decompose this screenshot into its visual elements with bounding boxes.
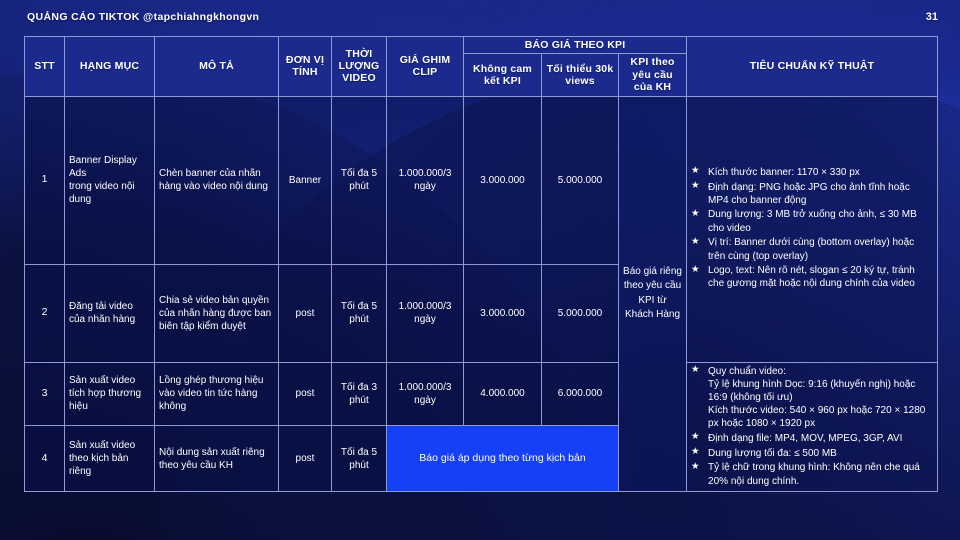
cell-stt: 3 — [25, 362, 65, 426]
header-khong-cam-ket-kpi: Không cam kết KPI — [464, 54, 542, 96]
cell-mo-ta: Nội dung sản xuất riêng theo yêu cầu KH — [155, 426, 279, 492]
cell-hang-muc: Sản xuất video theo kịch bản riêng — [65, 426, 155, 492]
tech-spec-list-1: Kích thước banner: 1170 × 330 px Định dạ… — [691, 166, 933, 291]
slide-title: QUẢNG CÁO TIKTOK @tapchiahngkhongvn — [27, 11, 259, 23]
header-stt: STT — [25, 37, 65, 97]
cell-kpi-khong-cam-ket: 4.000.000 — [464, 362, 542, 426]
cell-kpi-theo-yeu-cau-merged: Báo giá riêng theo yêu cầu KPI từ Khách … — [619, 96, 687, 492]
cell-don-vi-tinh: post — [279, 426, 332, 492]
table-row: 3 Sản xuất video tích hợp thương hiệu Lồ… — [25, 362, 938, 426]
table-row: 1 Banner Display Ads trong video nội dun… — [25, 96, 938, 264]
slide-canvas: QUẢNG CÁO TIKTOK @tapchiahngkhongvn 31 S… — [0, 0, 960, 540]
cell-don-vi-tinh: post — [279, 362, 332, 426]
header-kpi-theo-yeu-cau: KPI theo yêu cầu của KH — [619, 54, 687, 96]
cell-kpi-30k: 5.000.000 — [542, 264, 619, 362]
cell-thoi-luong: Tối đa 5 phút — [332, 96, 387, 264]
cell-mo-ta: Chèn banner của nhãn hàng vào video nội … — [155, 96, 279, 264]
cell-thoi-luong: Tối đa 5 phút — [332, 264, 387, 362]
header-toi-thieu-30k-views: Tối thiểu 30k views — [542, 54, 619, 96]
tech-spec-list-2: Quy chuẩn video: Tỷ lệ khung hình Dọc: 9… — [691, 365, 933, 488]
tech-spec-item: Vị trí: Banner dưới cùng (bottom overlay… — [691, 236, 933, 262]
cell-kpi-30k: 5.000.000 — [542, 96, 619, 264]
header-thoi-luong-video: THỜI LƯỢNG VIDEO — [332, 37, 387, 97]
tech-spec-item: Quy chuẩn video: Tỷ lệ khung hình Dọc: 9… — [691, 365, 933, 431]
cell-don-vi-tinh: Banner — [279, 96, 332, 264]
cell-kpi-30k: 6.000.000 — [542, 362, 619, 426]
cell-gia-ghim: 1.000.000/3 ngày — [387, 96, 464, 264]
tech-spec-item: Định dạng file: MP4, MOV, MPEG, 3GP, AVI — [691, 432, 933, 445]
cell-don-vi-tinh: post — [279, 264, 332, 362]
header-bao-gia-theo-kpi: BÁO GIÁ THEO KPI — [464, 37, 687, 54]
cell-thoi-luong: Tối đa 3 phút — [332, 362, 387, 426]
cell-kpi-khong-cam-ket: 3.000.000 — [464, 96, 542, 264]
cell-stt: 1 — [25, 96, 65, 264]
table-body: 1 Banner Display Ads trong video nội dun… — [25, 96, 938, 492]
cell-stt: 2 — [25, 264, 65, 362]
cell-tieu-chuan-block1: Kích thước banner: 1170 × 330 px Định dạ… — [687, 96, 938, 362]
cell-thoi-luong: Tối đa 5 phút — [332, 426, 387, 492]
header-gia-ghim-clip: GIÁ GHIM CLIP — [387, 37, 464, 97]
tech-spec-item: Dung lượng tối đa: ≤ 500 MB — [691, 447, 933, 460]
pricing-table: STT HẠNG MỤC MÔ TẢ ĐƠN VỊ TÍNH THỜI LƯỢN… — [24, 36, 938, 492]
cell-mo-ta: Chia sẻ video bản quyền của nhãn hàng đư… — [155, 264, 279, 362]
cell-stt: 4 — [25, 426, 65, 492]
tech-spec-item: Tỷ lệ chữ trong khung hình: Không nên ch… — [691, 461, 933, 487]
page-number: 31 — [926, 11, 938, 23]
header-mo-ta: MÔ TẢ — [155, 37, 279, 97]
tech-spec-item: Định dạng: PNG hoặc JPG cho ảnh tĩnh hoặ… — [691, 181, 933, 207]
tech-spec-item: Logo, text: Nên rõ nét, slogan ≤ 20 ký t… — [691, 264, 933, 290]
header-row-top: STT HẠNG MỤC MÔ TẢ ĐƠN VỊ TÍNH THỜI LƯỢN… — [25, 37, 938, 54]
header-don-vi-tinh: ĐƠN VỊ TÍNH — [279, 37, 332, 97]
tech-spec-item: Kích thước banner: 1170 × 330 px — [691, 166, 933, 179]
cell-kpi-khong-cam-ket: 3.000.000 — [464, 264, 542, 362]
cell-hang-muc: Sản xuất video tích hợp thương hiệu — [65, 362, 155, 426]
table-header: STT HẠNG MỤC MÔ TẢ ĐƠN VỊ TÍNH THỜI LƯỢN… — [25, 37, 938, 97]
cell-hang-muc: Banner Display Ads trong video nội dung — [65, 96, 155, 264]
cell-gia-ghim: 1.000.000/3 ngày — [387, 362, 464, 426]
header-hang-muc: HẠNG MỤC — [65, 37, 155, 97]
tech-spec-item: Dung lượng: 3 MB trở xuống cho ảnh, ≤ 30… — [691, 208, 933, 234]
cell-gia-ghim: 1.000.000/3 ngày — [387, 264, 464, 362]
cell-highlight-quote-note: Báo giá áp dụng theo từng kịch bản — [387, 426, 619, 492]
cell-hang-muc: Đăng tải video của nhãn hàng — [65, 264, 155, 362]
cell-tieu-chuan-block2: Quy chuẩn video: Tỷ lệ khung hình Dọc: 9… — [687, 362, 938, 492]
header-tieu-chuan-ky-thuat: TIÊU CHUẨN KỸ THUẬT — [687, 37, 938, 97]
pricing-table-container: STT HẠNG MỤC MÔ TẢ ĐƠN VỊ TÍNH THỜI LƯỢN… — [24, 36, 937, 492]
cell-mo-ta: Lồng ghép thương hiệu vào video tin tức … — [155, 362, 279, 426]
